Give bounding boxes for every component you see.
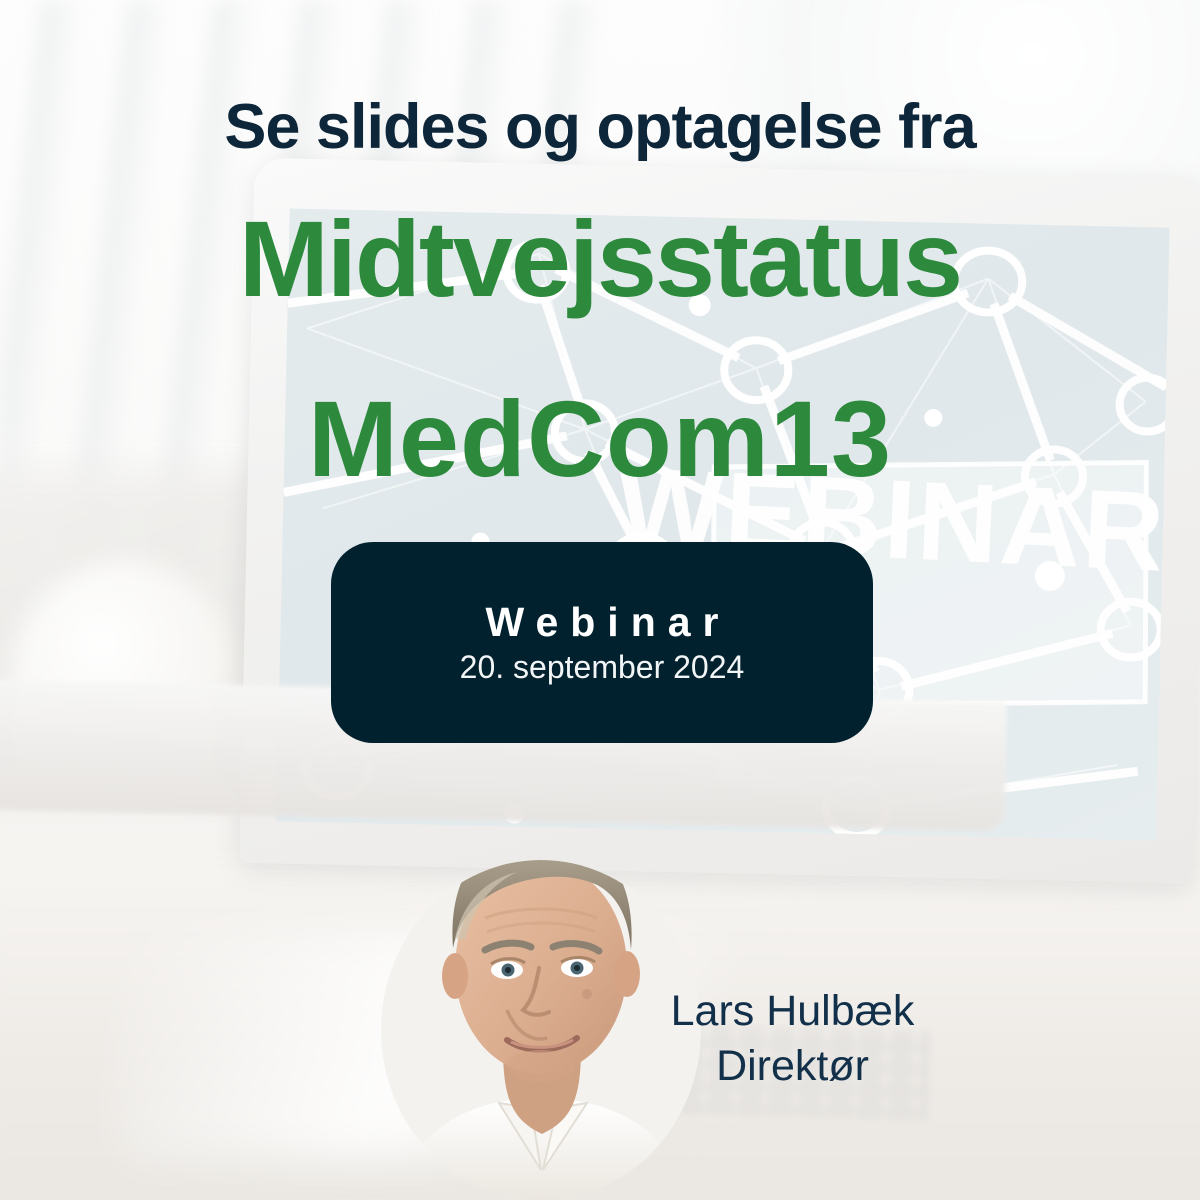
headline-green-line-2: MedCom13	[0, 385, 1200, 493]
webinar-promo-poster: WEBINAR Se slides og optagelse fra Midtv…	[0, 0, 1200, 1200]
badge-title: Webinar	[474, 602, 731, 643]
speaker-name: Lars Hulbæk	[620, 984, 965, 1039]
webinar-badge: Webinar 20. september 2024	[331, 542, 873, 743]
headline-green-line-1: Midtvejsstatus	[0, 205, 1200, 313]
speaker-role: Direktør	[620, 1039, 965, 1094]
badge-date: 20. september 2024	[460, 651, 745, 683]
speaker-caption: Lars Hulbæk Direktør	[620, 984, 965, 1094]
headline-top: Se slides og optagelse fra	[0, 96, 1200, 159]
